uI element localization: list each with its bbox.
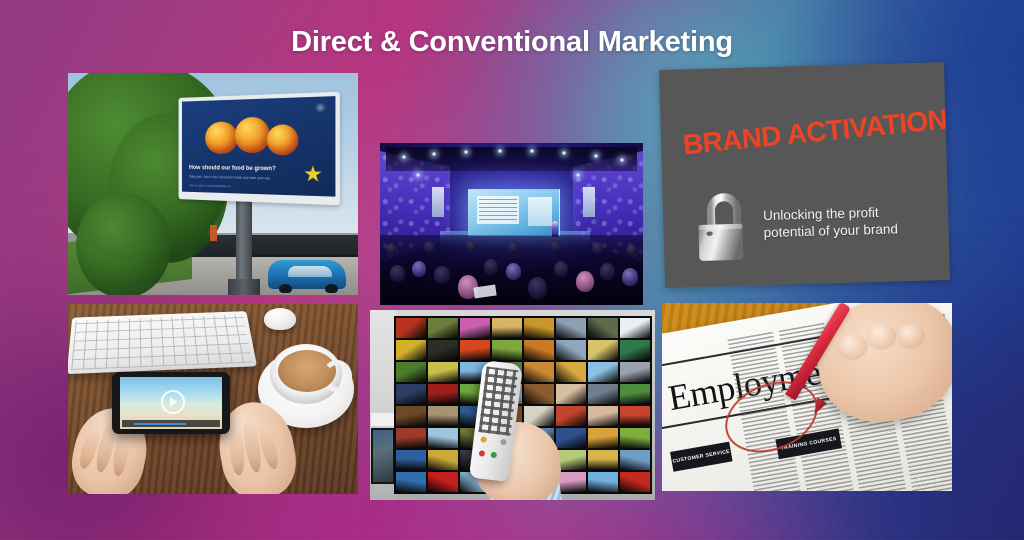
conference-lighting-truss (386, 147, 637, 171)
tv-screen-cell (524, 362, 554, 382)
computer-mouse (264, 308, 296, 330)
tv-screen-cell (460, 318, 490, 338)
tv-screen-cell (428, 428, 458, 448)
tv-screen-cell (588, 340, 618, 360)
remote-button-grey[interactable] (500, 439, 507, 446)
photo-employment-classifieds: Employment CUSTOMER SERVICE TRAINING COU… (662, 303, 952, 491)
stage-light-6 (562, 151, 566, 155)
tvwall-side-monitor-image (373, 430, 393, 482)
remote-button-green[interactable] (490, 452, 497, 459)
tv-screen-cell (556, 384, 586, 404)
tv-screen-cell (460, 340, 490, 360)
stage-light-5 (530, 149, 534, 153)
audience-head (600, 263, 615, 280)
audience-head (576, 271, 594, 292)
tv-screen-cell (556, 318, 586, 338)
slide-canvas: Direct & Conventional Marketing How shou… (0, 0, 1024, 540)
tv-screen-cell (396, 362, 426, 382)
billboard-car-window (288, 266, 332, 277)
billboard-street-sign (210, 225, 217, 241)
billboard-apple-3 (267, 124, 298, 155)
tv-screen-cell (524, 384, 554, 404)
tv-screen-cell (588, 384, 618, 404)
knuckle (836, 332, 869, 362)
audience-head (466, 240, 477, 252)
tv-screen-cell (620, 362, 650, 382)
conference-slide-textlines (479, 199, 517, 221)
knuckle (865, 322, 898, 352)
audience-head (424, 241, 435, 253)
tv-screen-cell (588, 318, 618, 338)
tv-screen-cell (620, 340, 650, 360)
conference-slide-image (528, 197, 552, 226)
remote-button-orange[interactable] (480, 436, 487, 443)
video-scrubber-bar[interactable] (122, 420, 220, 427)
tv-screen-cell (396, 340, 426, 360)
audience-head (622, 268, 638, 286)
tv-screen-cell (428, 318, 458, 338)
brand-activation-card: BRAND ACTIVATION (659, 62, 950, 288)
billboard-tree-low (76, 193, 171, 295)
tv-screen-cell (428, 384, 458, 404)
tv-screen-cell (588, 450, 618, 470)
conference-presentation-screen (468, 189, 560, 236)
tv-screen-cell (396, 318, 426, 338)
play-button-icon[interactable] (161, 390, 185, 414)
stage-light-9 (416, 173, 420, 177)
tv-screen-cell (556, 340, 586, 360)
tv-screen-cell (396, 450, 426, 470)
tv-screen-cell (428, 340, 458, 360)
tv-screen-cell (428, 362, 458, 382)
photo-tv-channel-wall (370, 310, 655, 500)
coffee-cup-handle (322, 360, 352, 392)
brand-activation-heading: BRAND ACTIVATION (682, 104, 949, 162)
billboard-apple-1 (205, 121, 237, 154)
tv-screen-cell (620, 406, 650, 426)
keyboard-keys (71, 315, 252, 370)
conference-banner-right (583, 187, 595, 217)
stage-light-8 (620, 158, 624, 162)
tv-screen-cell (620, 428, 650, 448)
tv-screen-cell (396, 428, 426, 448)
remote-buttons[interactable] (479, 366, 519, 435)
tv-screen-cell (588, 362, 618, 382)
tv-screen-cell (620, 318, 650, 338)
tv-screen-cell (524, 340, 554, 360)
tv-screen-cell (588, 406, 618, 426)
billboard-pole-base (228, 279, 260, 295)
tvwall-side-label (371, 413, 395, 426)
video-progress (134, 423, 186, 425)
tv-screen-cell (556, 428, 586, 448)
billboard-ad-headline: How should our food be grown? (189, 165, 276, 172)
stage-light-1 (402, 155, 406, 159)
tv-screen-cell (492, 318, 522, 338)
audience-head (434, 266, 450, 284)
tv-screen-cell (396, 406, 426, 426)
video-player[interactable] (120, 377, 222, 429)
tv-screen-cell (588, 472, 618, 492)
audience-head (626, 244, 637, 256)
star-icon: ★ (301, 165, 324, 188)
audience-head (508, 241, 519, 253)
photo-conference-auditorium (380, 143, 643, 305)
tv-screen-cell (396, 384, 426, 404)
photo-billboard-advertising: How should our food be grown? Take part.… (68, 73, 358, 295)
conference-audience-area (380, 235, 643, 305)
classified-section-customer-service: CUSTOMER SERVICE (670, 442, 733, 472)
tv-screen-cell (396, 472, 426, 492)
stage-light-10 (576, 173, 580, 177)
smartphone[interactable] (112, 372, 230, 434)
billboard-brand-mark (314, 103, 327, 113)
tv-screen-cell (620, 472, 650, 492)
remote-button-red[interactable] (479, 450, 486, 457)
tv-screen-cell (556, 362, 586, 382)
tv-screen-cell (588, 428, 618, 448)
audience-head (390, 265, 405, 282)
play-triangle-icon (170, 397, 177, 407)
audience-head (592, 242, 603, 254)
stage-light-2 (432, 152, 436, 156)
tv-screen-cell (428, 406, 458, 426)
audience-head (506, 263, 521, 280)
billboard-panel-frame: How should our food be grown? Take part.… (179, 92, 340, 206)
knuckle (895, 322, 926, 351)
computer-keyboard (68, 311, 257, 374)
brand-activation-tagline: Unlocking the profit potential of your b… (763, 203, 924, 241)
tv-screen-cell (428, 472, 458, 492)
audience-head (550, 240, 561, 252)
conference-banner-left (432, 187, 444, 217)
billboard-car-wheel-rear (279, 284, 292, 293)
tv-screen-cell (492, 340, 522, 360)
tv-screen-cell (524, 318, 554, 338)
tv-screen-cell (620, 384, 650, 404)
billboard-car-wheel-front (325, 284, 338, 293)
billboard-ad-footnote: Find us online at www.ENGAGE.com (189, 183, 231, 188)
audience-head (528, 277, 547, 299)
audience-head (386, 243, 397, 255)
tv-screen-cell (428, 450, 458, 470)
stage-light-3 (464, 150, 468, 154)
billboard-apple-2 (235, 117, 270, 153)
billboard-ad-subtext: Take part. Join in the Consumer Panel an… (189, 175, 271, 181)
image-watermark: STOCK (910, 476, 942, 485)
audience-head (412, 261, 426, 277)
photo-mobile-video-desk (68, 304, 358, 494)
audience-head (484, 259, 498, 275)
stage-light-7 (594, 154, 598, 158)
audience-head (554, 261, 568, 277)
tv-screen-cell (556, 406, 586, 426)
billboard-advertisement: How should our food be grown? Take part.… (182, 96, 335, 197)
open-padlock-icon (694, 185, 760, 265)
tv-screen-cell (620, 450, 650, 470)
audience-notebook (473, 285, 496, 299)
tvwall-side-monitor (371, 428, 395, 484)
stage-light-4 (498, 149, 502, 153)
page-title: Direct & Conventional Marketing (0, 26, 1024, 59)
